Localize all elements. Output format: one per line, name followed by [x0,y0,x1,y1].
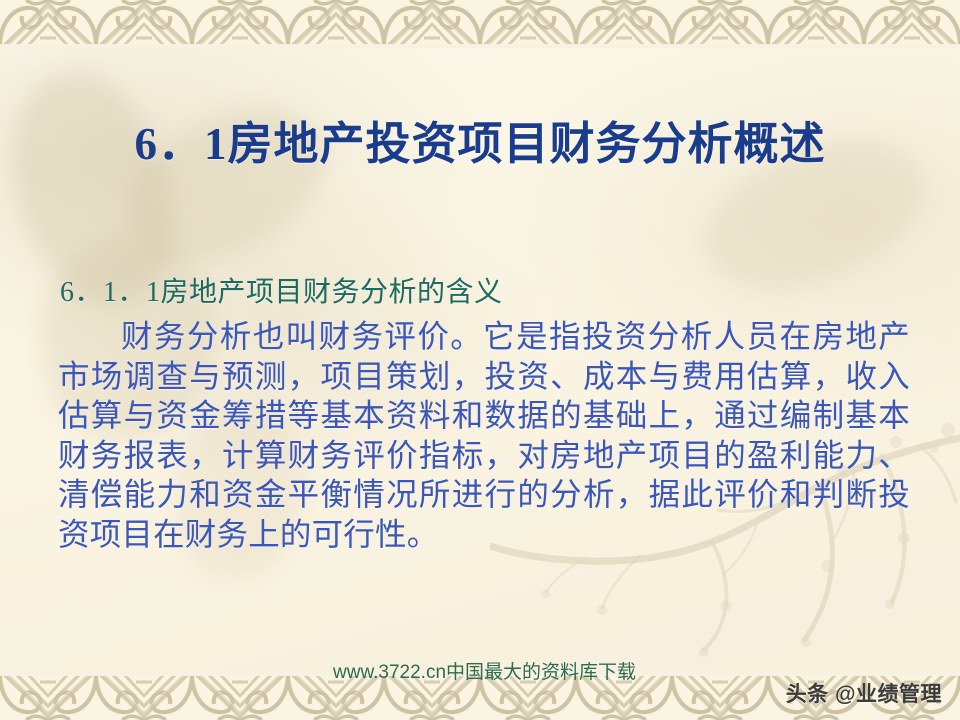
footer-source-url: www.3722.cn中国最大的资料库下载 [333,660,693,685]
body-paragraph: 财务分析也叫财务评价。它是指投资分析人员在房地产市场调查与预测，项目策划，投资、… [58,317,910,554]
page-title: 6．1房地产投资项目财务分析概述 [0,118,960,170]
body-text-block: 财务分析也叫财务评价。它是指投资分析人员在房地产市场调查与预测，项目策划，投资、… [58,317,910,554]
presentation-slide: 6．1房地产投资项目财务分析概述 6．1．1房地产项目财务分析的含义 财务分析也… [0,0,960,720]
ornamental-border-top [0,0,960,48]
channel-watermark: 头条 @业绩管理 [786,678,942,708]
section-heading: 6．1．1房地产项目财务分析的含义 [60,270,503,310]
celtic-knot-pattern-icon [0,0,960,48]
